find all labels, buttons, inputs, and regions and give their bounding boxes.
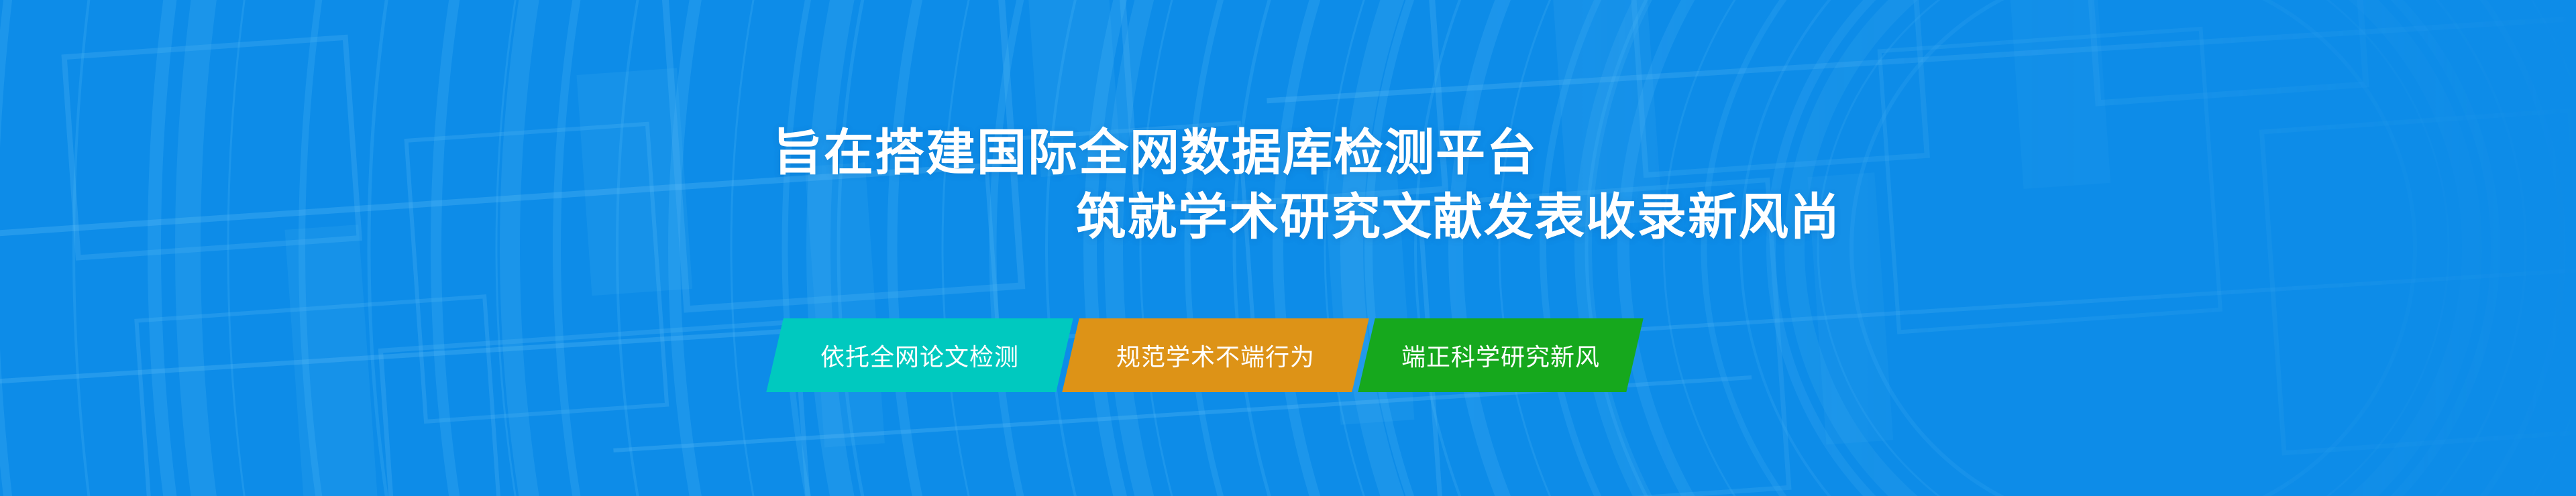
headline-line-2: 筑就学术研究文献发表收录新风尚 — [1076, 185, 2576, 249]
feature-tag-3-label: 端正科学研究新风 — [1401, 338, 1600, 373]
feature-tag-3[interactable]: 端正科学研究新风 — [1358, 318, 1643, 392]
feature-tag-2[interactable]: 规范学术不端行为 — [1062, 318, 1368, 392]
promo-banner: 旨在搭建国际全网数据库检测平台 筑就学术研究文献发表收录新风尚 依托全网论文检测… — [0, 0, 2576, 496]
feature-tag-list: 依托全网论文检测 规范学术不端行为 端正科学研究新风 — [775, 318, 1635, 392]
headline-block: 旨在搭建国际全网数据库检测平台 筑就学术研究文献发表收录新风尚 — [0, 121, 2576, 249]
feature-tag-2-label: 规范学术不端行为 — [1116, 338, 1315, 373]
headline-line-1: 旨在搭建国际全网数据库检测平台 — [773, 121, 2576, 185]
feature-tag-1[interactable]: 依托全网论文检测 — [766, 318, 1073, 392]
feature-tag-1-label: 依托全网论文检测 — [820, 338, 1019, 373]
